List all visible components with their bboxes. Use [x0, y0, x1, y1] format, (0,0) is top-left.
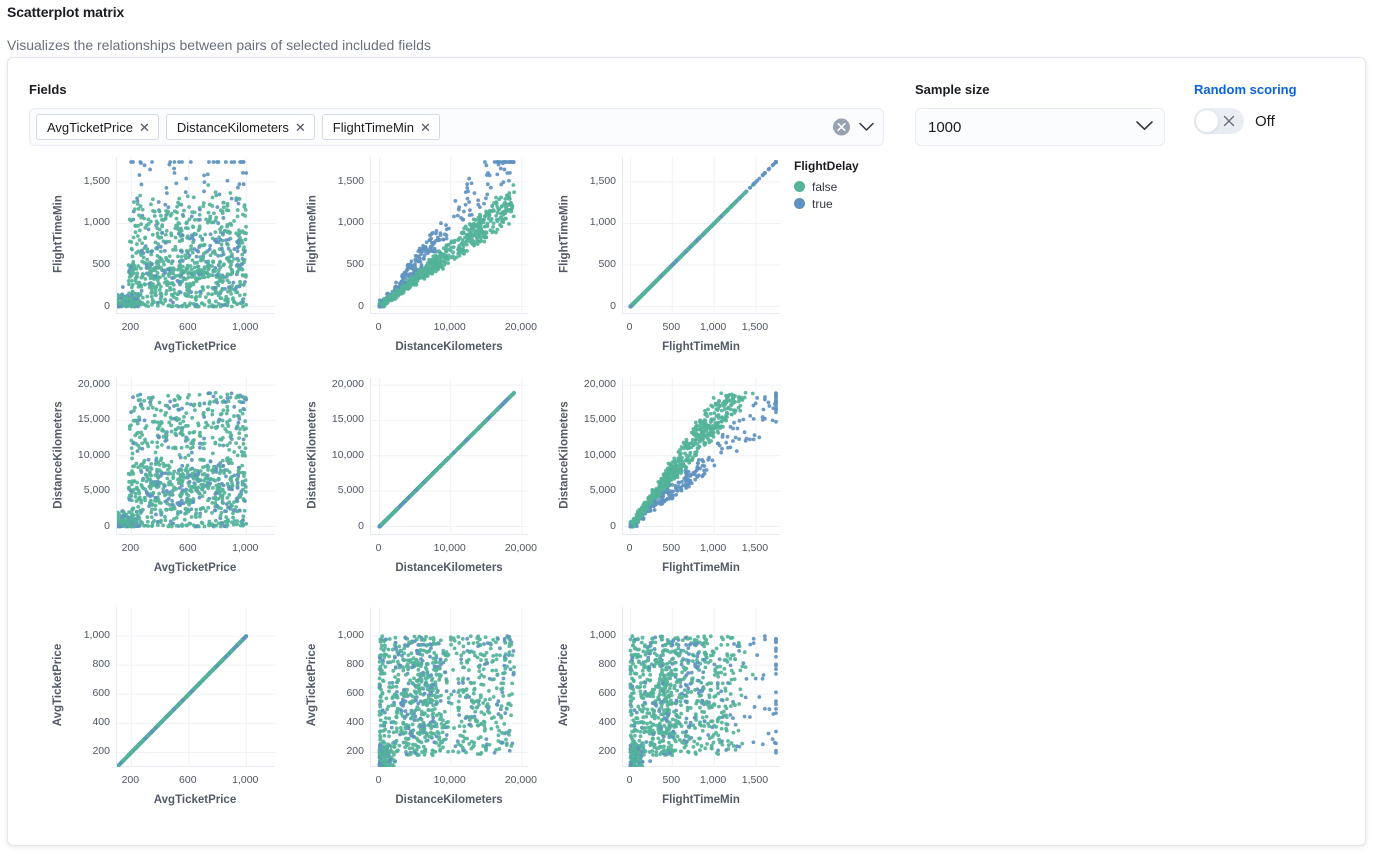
y-tick-label: 800: [56, 658, 110, 670]
cross-icon: [1223, 115, 1235, 127]
plot-canvas: [117, 378, 275, 535]
y-tick-label: 1,000: [56, 216, 110, 228]
y-tick-label: 0: [56, 520, 110, 532]
y-tick-label: 600: [562, 687, 616, 699]
y-tick-label: 0: [56, 300, 110, 312]
x-tick-label: 500: [639, 542, 703, 554]
y-tick-label: 0: [562, 520, 616, 532]
x-tick-label: 1,000: [213, 542, 277, 554]
y-tick-label: 0: [310, 520, 364, 532]
x-tick-label: 500: [639, 321, 703, 333]
y-tick-label: 5,000: [562, 484, 616, 496]
toggle-knob: [1195, 109, 1219, 133]
x-tick-label: 1,500: [723, 774, 787, 786]
x-tick-label: 0: [598, 321, 662, 333]
x-tick-label: 1,000: [213, 774, 277, 786]
plot-canvas: [623, 607, 781, 767]
plot-canvas: [623, 378, 781, 535]
sample-size-value: 1000: [928, 119, 961, 136]
y-tick-label: 1,000: [310, 629, 364, 641]
y-tick-label: 20,000: [56, 378, 110, 390]
y-axis-title: AvgTicketPrice: [52, 605, 64, 765]
x-axis-title: FlightTimeMin: [582, 341, 820, 353]
x-tick-label: 200: [98, 542, 162, 554]
x-tick-label: 1,000: [681, 321, 745, 333]
y-tick-label: 800: [562, 658, 616, 670]
y-axis-title: DistanceKilometers: [306, 376, 318, 533]
scatterplot-matrix-card: Fields AvgTicketPrice ✕ DistanceKilomete…: [7, 57, 1366, 846]
y-tick-label: 600: [56, 687, 110, 699]
field-pill-label: DistanceKilometers: [177, 120, 289, 135]
x-tick-label: 0: [598, 542, 662, 554]
close-icon[interactable]: ✕: [420, 121, 431, 134]
x-tick-label: 10,000: [418, 774, 482, 786]
y-axis-title: AvgTicketPrice: [306, 605, 318, 765]
x-tick-label: 0: [347, 321, 411, 333]
x-tick-label: 10,000: [418, 542, 482, 554]
field-pill[interactable]: FlightTimeMin ✕: [322, 114, 440, 140]
y-tick-label: 400: [310, 716, 364, 728]
y-axis-title: DistanceKilometers: [52, 376, 64, 533]
y-tick-label: 20,000: [310, 378, 364, 390]
y-tick-label: 20,000: [562, 378, 616, 390]
chevron-down-icon[interactable]: [1136, 121, 1153, 131]
plot-area[interactable]: [116, 607, 274, 767]
plot-canvas: [371, 378, 529, 535]
y-tick-label: 15,000: [56, 413, 110, 425]
legend: FlightDelay false true: [794, 159, 859, 212]
y-axis-title: DistanceKilometers: [558, 376, 570, 533]
x-axis-title: AvgTicketPrice: [76, 341, 314, 353]
plot-canvas: [117, 157, 275, 314]
x-axis-title: AvgTicketPrice: [76, 794, 314, 806]
field-pill-label: FlightTimeMin: [333, 120, 414, 135]
y-tick-label: 200: [310, 745, 364, 757]
y-tick-label: 400: [56, 716, 110, 728]
x-axis-title: AvgTicketPrice: [76, 562, 314, 574]
x-axis-title: DistanceKilometers: [330, 794, 568, 806]
clear-circle-icon[interactable]: [833, 119, 850, 136]
y-tick-label: 500: [56, 258, 110, 270]
fields-label: Fields: [29, 82, 67, 97]
y-tick-label: 1,000: [56, 629, 110, 641]
x-tick-label: 200: [98, 774, 162, 786]
y-tick-label: 10,000: [310, 449, 364, 461]
y-tick-label: 15,000: [310, 413, 364, 425]
plot-area[interactable]: [116, 378, 274, 535]
legend-item-true[interactable]: true: [794, 195, 859, 212]
page-title: Scatterplot matrix: [7, 4, 124, 20]
y-tick-label: 5,000: [310, 484, 364, 496]
y-tick-label: 10,000: [56, 449, 110, 461]
x-axis-title: FlightTimeMin: [582, 794, 820, 806]
x-tick-label: 20,000: [489, 542, 553, 554]
y-tick-label: 200: [562, 745, 616, 757]
field-pill[interactable]: DistanceKilometers ✕: [166, 114, 315, 140]
x-tick-label: 1,000: [213, 321, 277, 333]
sample-size-select[interactable]: 1000: [915, 108, 1165, 146]
x-tick-label: 1,000: [681, 542, 745, 554]
x-tick-label: 1,500: [723, 321, 787, 333]
field-pill-label: AvgTicketPrice: [47, 120, 133, 135]
x-tick-label: 200: [98, 321, 162, 333]
combobox-actions: [833, 119, 874, 136]
x-axis-title: DistanceKilometers: [330, 562, 568, 574]
plot-canvas: [623, 157, 781, 314]
chevron-down-icon[interactable]: [859, 123, 874, 132]
y-tick-label: 600: [310, 687, 364, 699]
x-tick-label: 0: [347, 774, 411, 786]
x-axis-title: DistanceKilometers: [330, 341, 568, 353]
legend-item-label: false: [812, 180, 837, 194]
close-icon[interactable]: ✕: [139, 121, 150, 134]
y-tick-label: 400: [562, 716, 616, 728]
fields-combobox[interactable]: AvgTicketPrice ✕ DistanceKilometers ✕ Fl…: [29, 108, 884, 146]
sample-size-label: Sample size: [915, 82, 989, 97]
legend-title: FlightDelay: [794, 159, 859, 173]
y-tick-label: 10,000: [562, 449, 616, 461]
y-tick-label: 1,500: [56, 175, 110, 187]
x-tick-label: 600: [156, 542, 220, 554]
plot-area[interactable]: [622, 378, 780, 535]
plot-canvas: [371, 607, 529, 767]
y-tick-label: 1,500: [562, 175, 616, 187]
x-axis-title: FlightTimeMin: [582, 562, 820, 574]
legend-color-swatch: [794, 198, 805, 209]
x-tick-label: 20,000: [489, 774, 553, 786]
plot-area[interactable]: [370, 157, 528, 314]
scatterplot-matrix: 05001,0001,5002006001,000FlightTimeMinAv…: [22, 152, 792, 832]
random-scoring-state: Off: [1255, 113, 1275, 130]
x-tick-label: 600: [156, 321, 220, 333]
x-tick-label: 500: [639, 774, 703, 786]
legend-item-false[interactable]: false: [794, 178, 859, 195]
random-scoring-toggle[interactable]: [1194, 108, 1244, 134]
y-axis-title: FlightTimeMin: [558, 155, 570, 312]
legend-item-label: true: [812, 197, 833, 211]
y-tick-label: 500: [310, 258, 364, 270]
plot-area[interactable]: [622, 607, 780, 767]
random-scoring-label[interactable]: Random scoring: [1194, 82, 1297, 97]
plot-canvas: [117, 607, 275, 767]
y-tick-label: 0: [310, 300, 364, 312]
plot-area[interactable]: [370, 607, 528, 767]
x-tick-label: 1,500: [723, 542, 787, 554]
x-tick-label: 20,000: [489, 321, 553, 333]
plot-area[interactable]: [116, 157, 274, 314]
y-tick-label: 800: [310, 658, 364, 670]
y-tick-label: 1,000: [562, 629, 616, 641]
y-tick-label: 5,000: [56, 484, 110, 496]
page-subtitle: Visualizes the relationships between pai…: [7, 37, 431, 53]
y-axis-title: FlightTimeMin: [306, 155, 318, 312]
x-tick-label: 0: [598, 774, 662, 786]
x-tick-label: 10,000: [418, 321, 482, 333]
plot-canvas: [371, 157, 529, 314]
y-tick-label: 500: [562, 258, 616, 270]
field-pill[interactable]: AvgTicketPrice ✕: [36, 114, 159, 140]
x-tick-label: 1,000: [681, 774, 745, 786]
x-tick-label: 600: [156, 774, 220, 786]
y-tick-label: 1,000: [310, 216, 364, 228]
legend-color-swatch: [794, 181, 805, 192]
y-tick-label: 0: [562, 300, 616, 312]
plot-area[interactable]: [622, 157, 780, 314]
y-tick-label: 200: [56, 745, 110, 757]
close-icon[interactable]: ✕: [295, 121, 306, 134]
y-tick-label: 1,000: [562, 216, 616, 228]
y-axis-title: AvgTicketPrice: [558, 605, 570, 765]
random-scoring-control: Off: [1194, 108, 1275, 134]
plot-area[interactable]: [370, 378, 528, 535]
y-axis-title: FlightTimeMin: [52, 155, 64, 312]
x-tick-label: 0: [347, 542, 411, 554]
y-tick-label: 1,500: [310, 175, 364, 187]
y-tick-label: 15,000: [562, 413, 616, 425]
